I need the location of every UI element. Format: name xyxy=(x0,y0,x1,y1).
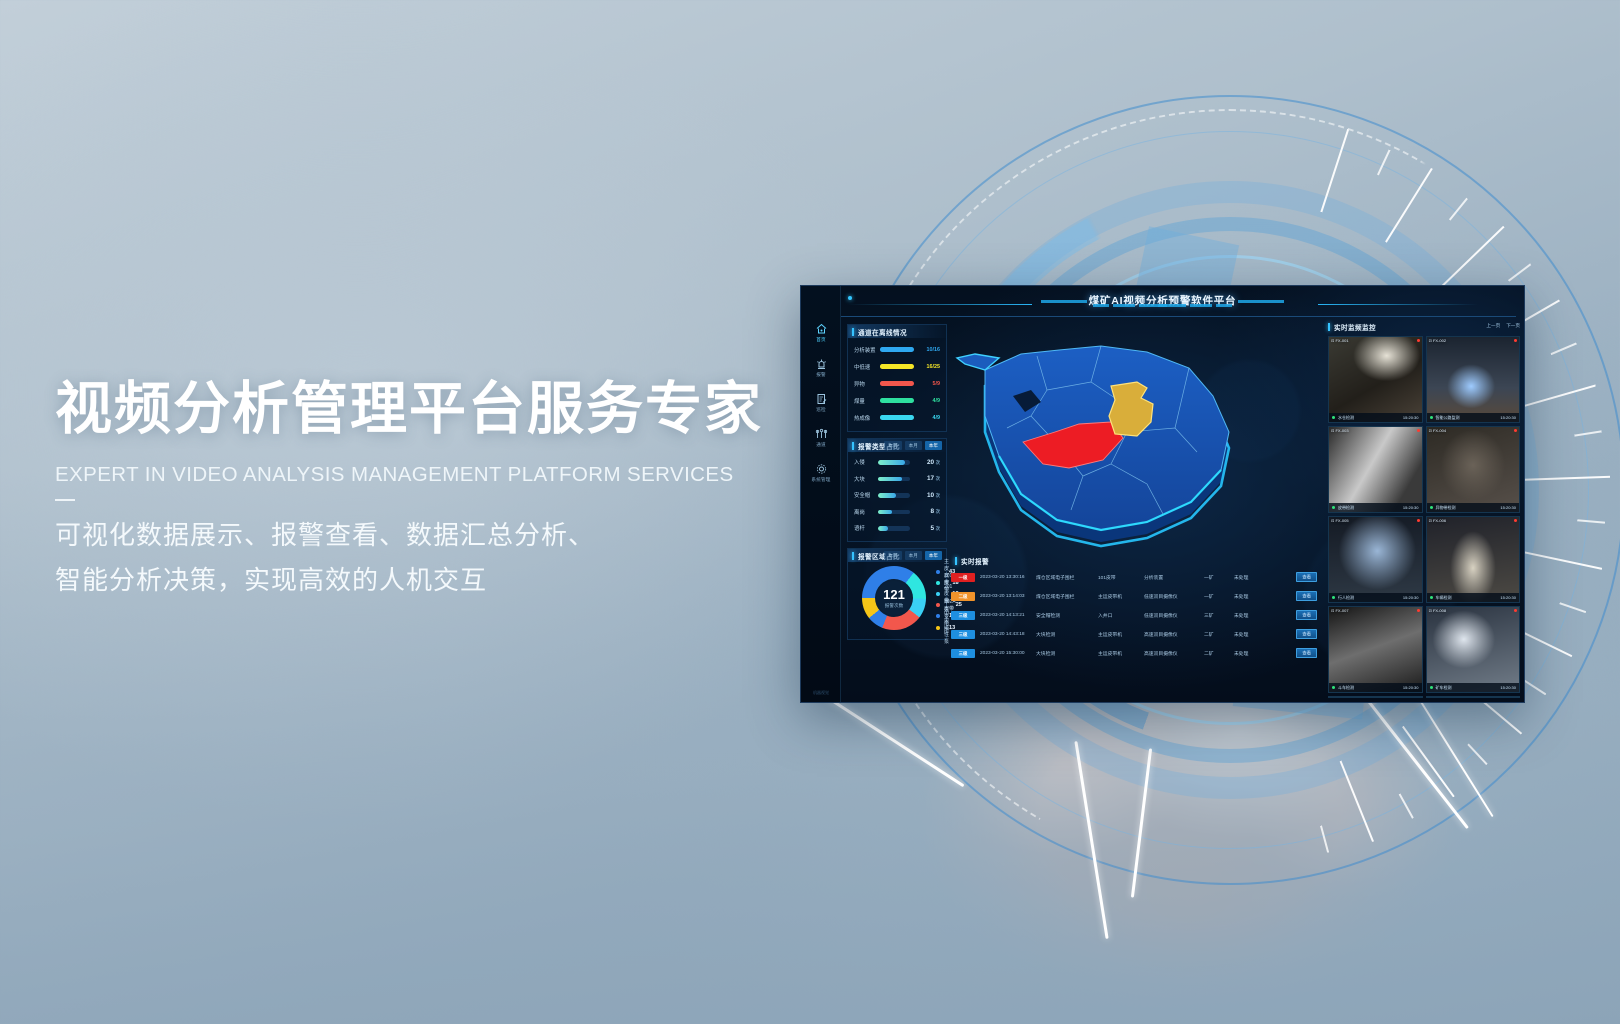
channel-row: 异物5/9 xyxy=(848,375,946,392)
hero-line-1: 可视化数据展示、报警查看、数据汇总分析、 xyxy=(55,513,815,559)
video-cell[interactable]: ⊡ FX-007斗车检测15:20:30 xyxy=(1328,606,1423,693)
video-grid: ⊡ FX-001水仓检测15:20:30⊡ FX-002智能公路监测15:20:… xyxy=(1328,336,1520,698)
alarm-device: 低速双目摄像仪 xyxy=(1144,593,1204,600)
donut-legend: 主皮皮带43101皮带18201皮带12102A皮带25中央变电所10中央磁性泵… xyxy=(936,566,940,633)
alarm-mine: 二矿 xyxy=(1204,631,1234,638)
legend-dot-icon xyxy=(936,570,940,574)
action-cell: 查看 xyxy=(1262,651,1319,657)
sidebar-item-alarm[interactable]: 报警 xyxy=(801,349,841,384)
legend-item: 中央磁性泵13 xyxy=(936,622,940,633)
channel-value: 5/9 xyxy=(914,381,940,387)
legend-item: 主皮皮带43 xyxy=(936,566,940,577)
hero-text-block: 视频分析管理平台服务专家 EXPERT IN VIDEO ANALYSIS MA… xyxy=(55,378,815,604)
alarm-icon xyxy=(815,358,828,370)
tab-本年[interactable]: 本年 xyxy=(925,441,942,450)
region-map[interactable] xyxy=(951,324,1251,552)
video-cell[interactable]: ⊡ FX-006车辆检测15:20:30 xyxy=(1426,516,1521,603)
panel-header: 实时监频监控 上一页 下一页 xyxy=(1324,320,1524,334)
time-range-tabs: 本周本月本年 xyxy=(884,551,942,560)
dashboard-header: 煤矿AI视频分析预警软件平台 xyxy=(801,286,1524,320)
alarm-type-label: 语杆 xyxy=(854,524,878,532)
alarm-type-track xyxy=(878,526,910,531)
alarm-type-label: 入侵 xyxy=(854,458,878,466)
alarm-level-badge: 二级 xyxy=(951,592,975,601)
alarm-type-fill xyxy=(878,460,905,465)
channel-track xyxy=(880,364,914,369)
accent-bar-icon xyxy=(1328,323,1330,331)
alarm-location: 主运皮带机 xyxy=(1098,631,1144,638)
video-cell[interactable]: ⊡ FX-004异物带检测15:20:30 xyxy=(1426,426,1521,513)
camera-timestamp: 15:20:30 xyxy=(1403,505,1419,510)
page-title: 视频分析管理平台服务专家 xyxy=(55,378,815,442)
table-row: 三级2023-03-20 14:13:21安全帽检测入井口低速双目摄像仪三矿未处… xyxy=(951,606,1319,625)
alarm-area-panel: 报警区域占比 本周本月本年 121 报警次数 主皮皮带43101皮带18201皮… xyxy=(847,548,947,640)
panel-header: 实时报警 xyxy=(951,554,1319,568)
tab-本周[interactable]: 本周 xyxy=(884,551,901,560)
recording-indicator-icon xyxy=(1417,339,1420,342)
recording-indicator-icon xyxy=(1514,609,1517,612)
alarm-level-badge: 三级 xyxy=(951,649,975,658)
sidebar-item-label: 首页 xyxy=(801,337,841,343)
channel-icon xyxy=(815,428,828,440)
channel-bar-list: 分析装置10/16中低速16/25异物5/9煤量4/9热成像4/9 xyxy=(848,338,946,426)
alarm-type: 煤仓区域电子围栏 xyxy=(1036,574,1098,581)
alarm-type-fill xyxy=(878,493,896,498)
legend-dot-icon xyxy=(936,581,940,585)
video-feed-image xyxy=(1427,517,1520,602)
video-cell-footer: 水仓检测15:20:30 xyxy=(1329,413,1422,422)
realtime-alarm-panel: 实时报警 一级2023-03-20 13:30:16煤仓区域电子围栏101皮带分… xyxy=(951,554,1319,696)
tab-本年[interactable]: 本年 xyxy=(925,551,942,560)
sidebar-item-label: 通道 xyxy=(801,442,841,448)
camera-timestamp: 15:20:30 xyxy=(1403,685,1419,690)
alarm-device: 低速双目摄像仪 xyxy=(1144,612,1204,619)
alarm-location: 101皮带 xyxy=(1098,574,1144,581)
video-pagination: 上一页 下一页 xyxy=(1486,323,1520,329)
view-button[interactable]: 查看 xyxy=(1296,610,1317,620)
legend-dot-icon xyxy=(936,592,940,596)
video-cell[interactable]: ⊡ FX-011人员定位15:20:30 xyxy=(1328,696,1423,698)
alarm-type-track xyxy=(878,460,910,465)
accent-bar-icon xyxy=(852,328,854,336)
camera-id-label: ⊡ FX-003 xyxy=(1331,428,1349,433)
channel-track xyxy=(880,381,914,386)
camera-name: 皮带检测 xyxy=(1338,505,1403,511)
video-monitor-panel: 实时监频监控 上一页 下一页 ⊡ FX-001水仓检测15:20:30⊡ FX-… xyxy=(1324,320,1524,702)
video-cell[interactable]: ⊡ FX-005行人检测15:20:30 xyxy=(1328,516,1423,603)
channel-track xyxy=(880,415,914,420)
channel-value: 16/25 xyxy=(914,364,940,370)
alarm-type: 煤仓区域电子围栏 xyxy=(1036,593,1098,600)
camera-name: 矿车检测 xyxy=(1436,685,1501,691)
donut-total-label: 报警次数 xyxy=(885,603,903,609)
view-button[interactable]: 查看 xyxy=(1296,629,1317,639)
sidebar-item-system[interactable]: 系统管理 xyxy=(801,454,841,489)
recording-indicator-icon xyxy=(1417,429,1420,432)
panel-header: 报警区域占比 本周本月本年 xyxy=(848,549,946,562)
gear-icon xyxy=(815,463,828,475)
table-row: 一级2023-03-20 13:30:16煤仓区域电子围栏101皮带分析装置一矿… xyxy=(951,568,1319,587)
dashboard: 煤矿AI视频分析预警软件平台 首页 xyxy=(801,286,1524,702)
channel-label: 煤量 xyxy=(854,397,880,405)
online-status-icon xyxy=(1332,596,1335,599)
camera-id-label: ⊡ FX-005 xyxy=(1331,518,1349,523)
alarm-status: 未处理 xyxy=(1234,631,1262,638)
alarm-type-row: 安全帽10次 xyxy=(848,487,946,504)
alarm-status: 未处理 xyxy=(1234,650,1262,657)
sidebar-item-label: 报警 xyxy=(801,372,841,378)
alarm-mine: 三矿 xyxy=(1204,612,1234,619)
camera-timestamp: 15:20:30 xyxy=(1500,415,1516,420)
channel-fill xyxy=(880,381,899,386)
recording-indicator-icon xyxy=(1514,339,1517,342)
legend-dot-icon xyxy=(936,614,940,618)
tab-本月[interactable]: 本月 xyxy=(905,441,922,450)
alarm-location: 主运皮带机 xyxy=(1098,650,1144,657)
alarm-type-label: 安全帽 xyxy=(854,491,878,499)
alarm-type-value: 5次 xyxy=(910,525,940,532)
camera-id-label: ⊡ FX-007 xyxy=(1331,608,1349,613)
video-feed-image xyxy=(1427,337,1520,422)
recording-indicator-icon xyxy=(1514,429,1517,432)
alarm-time: 2023-03-20 13:14:03 xyxy=(980,594,1036,599)
panel-header: 报警类型占比 本周本月本年 xyxy=(848,439,946,452)
accent-bar-icon xyxy=(852,552,854,560)
sidebar-item-label: 巡检 xyxy=(801,407,841,413)
prev-page-button[interactable]: 上一页 xyxy=(1486,323,1500,329)
alarm-type-row: 大块17次 xyxy=(848,471,946,488)
view-button[interactable]: 查看 xyxy=(1296,591,1317,601)
camera-id-label: ⊡ FX-002 xyxy=(1429,338,1447,343)
legend-item: 中央变电所10 xyxy=(936,611,940,622)
online-status-icon xyxy=(1332,686,1335,689)
camera-id-label: ⊡ FX-006 xyxy=(1429,518,1447,523)
video-cell-footer: 异物带检测15:20:30 xyxy=(1427,503,1520,512)
alarm-type-panel: 报警类型占比 本周本月本年 入侵20次大块17次安全帽10次离岗8次语杆5次 xyxy=(847,438,947,542)
channel-fill xyxy=(880,415,895,420)
video-feed-image xyxy=(1329,427,1422,512)
alarm-time: 2023-03-20 14:13:21 xyxy=(980,613,1036,618)
channel-value: 4/9 xyxy=(914,398,940,404)
view-button[interactable]: 查看 xyxy=(1296,572,1317,582)
camera-timestamp: 15:20:30 xyxy=(1500,505,1516,510)
channel-label: 热成像 xyxy=(854,414,880,422)
video-feed-image xyxy=(1427,607,1520,692)
online-status-icon xyxy=(1332,506,1335,509)
recording-indicator-icon xyxy=(1417,609,1420,612)
table-row: 三级2023-03-20 14:43:18大块检测主运皮带机高速双目摄像仪二矿未… xyxy=(951,625,1319,644)
alarm-type-fill xyxy=(878,510,892,515)
alarm-type: 大块检测 xyxy=(1036,650,1098,657)
alarm-type: 安全帽检测 xyxy=(1036,612,1098,619)
channel-fill xyxy=(880,398,895,403)
alarm-type-label: 大块 xyxy=(854,475,878,483)
next-page-button[interactable]: 下一页 xyxy=(1506,323,1520,329)
tab-本月[interactable]: 本月 xyxy=(905,551,922,560)
monitor-screen: 煤矿AI视频分析预警软件平台 首页 xyxy=(800,285,1525,703)
channel-status-panel: 通道在离线情况 分析装置10/16中低速16/25异物5/9煤量4/9热成像4/… xyxy=(847,324,947,432)
view-button[interactable]: 查看 xyxy=(1296,648,1317,658)
video-feed-image xyxy=(1329,517,1422,602)
panel-title: 实时监频监控 xyxy=(1334,322,1376,332)
video-cell[interactable]: ⊡ FX-002智能公路监测15:20:30 xyxy=(1426,336,1521,423)
channel-label: 中低速 xyxy=(854,363,880,371)
donut-center: 121 报警次数 xyxy=(862,566,926,630)
channel-fill xyxy=(880,347,901,352)
alarm-type-track xyxy=(878,477,910,482)
alarm-type-row: 入侵20次 xyxy=(848,454,946,471)
sidebar-item-inspection[interactable]: 巡检 xyxy=(801,384,841,419)
alarm-status: 未处理 xyxy=(1234,612,1262,619)
video-feed-image xyxy=(1329,607,1422,692)
video-cell-footer: 智能公路监测15:20:30 xyxy=(1427,413,1520,422)
alarm-location: 入井口 xyxy=(1098,612,1144,619)
channel-value: 10/16 xyxy=(914,347,940,353)
alarm-mine: 一矿 xyxy=(1204,574,1234,581)
channel-fill xyxy=(880,364,902,369)
alarm-status: 未处理 xyxy=(1234,593,1262,600)
camera-id-label: ⊡ FX-001 xyxy=(1331,338,1349,343)
camera-id-label: ⊡ FX-004 xyxy=(1429,428,1447,433)
sidebar-item-label: 系统管理 xyxy=(801,477,841,483)
alarm-device: 分析装置 xyxy=(1144,574,1204,581)
alarm-type-row: 离岗8次 xyxy=(848,504,946,521)
alarm-device: 高速双目摄像仪 xyxy=(1144,631,1204,638)
camera-name: 斗车检测 xyxy=(1338,685,1403,691)
hero-line-2: 智能分析决策，实现高效的人机交互 xyxy=(55,558,815,604)
video-cell-footer: 行人检测15:20:30 xyxy=(1329,593,1422,602)
alarm-device: 高速双目摄像仪 xyxy=(1144,650,1204,657)
legend-item: 102A皮带25 xyxy=(936,600,940,611)
online-status-icon xyxy=(1430,596,1433,599)
channel-row: 分析装置10/16 xyxy=(848,341,946,358)
alarm-type-value: 8次 xyxy=(910,508,940,515)
camera-timestamp: 15:20:30 xyxy=(1500,595,1516,600)
inspection-icon xyxy=(815,393,828,405)
video-cell[interactable]: ⊡ FX-001水仓检测15:20:30 xyxy=(1328,336,1423,423)
panel-title: 通道在离线情况 xyxy=(858,327,907,337)
tab-本周[interactable]: 本周 xyxy=(884,441,901,450)
action-cell: 查看 xyxy=(1262,575,1319,581)
action-cell: 查看 xyxy=(1262,594,1319,600)
video-feed-image xyxy=(1329,337,1422,422)
channel-row: 热成像4/9 xyxy=(848,409,946,426)
map-svg xyxy=(951,324,1251,552)
video-cell-footer: 巷道检测15:20:30 xyxy=(1427,696,1520,697)
panel-header: 通道在离线情况 xyxy=(848,325,946,338)
video-cell-footer: 斗车检测15:20:30 xyxy=(1329,683,1422,692)
alarm-type-bar-list: 入侵20次大块17次安全帽10次离岗8次语杆5次 xyxy=(848,452,946,537)
camera-timestamp: 15:20:30 xyxy=(1403,595,1419,600)
alarm-type-label: 离岗 xyxy=(854,508,878,516)
video-cell[interactable]: ⊡ FX-008矿车检测15:20:30 xyxy=(1426,606,1521,693)
channel-track xyxy=(880,347,914,352)
sidebar-item-home[interactable]: 首页 xyxy=(801,314,841,349)
action-cell: 查看 xyxy=(1262,632,1319,638)
alarm-type-row: 语杆5次 xyxy=(848,520,946,537)
alarm-level-badge: 三级 xyxy=(951,611,975,620)
channel-row: 煤量4/9 xyxy=(848,392,946,409)
watermark: 机器视觉 xyxy=(801,690,841,696)
legend-item: 201皮带12 xyxy=(936,588,940,599)
alarm-type-track xyxy=(878,510,910,515)
alarm-time: 2023-03-20 14:43:18 xyxy=(980,632,1036,637)
time-range-tabs: 本周本月本年 xyxy=(884,441,942,450)
table-row: 三级2023-03-20 15:30:00大块检测主运皮带机高速双目摄像仪二矿未… xyxy=(951,644,1319,663)
panel-title: 实时报警 xyxy=(961,556,989,566)
legend-item: 101皮带18 xyxy=(936,577,940,588)
alarm-level-badge: 三级 xyxy=(951,630,975,639)
channel-value: 4/9 xyxy=(914,415,940,421)
alarm-time: 2023-03-20 15:30:00 xyxy=(980,651,1036,656)
table-row: 二级2023-03-20 13:14:03煤仓区域电子围栏主运皮带机低速双目摄像… xyxy=(951,587,1319,606)
alarm-type-value: 10次 xyxy=(910,492,940,499)
sidebar: 首页 报警 巡检 xyxy=(801,286,841,702)
alarm-type-fill xyxy=(878,477,902,482)
alarm-area-donut-chart: 121 报警次数 主皮皮带43101皮带18201皮带12102A皮带25中央变… xyxy=(848,562,946,636)
camera-timestamp: 15:20:30 xyxy=(1403,415,1419,420)
action-cell: 查看 xyxy=(1262,613,1319,619)
alarm-type-track xyxy=(878,493,910,498)
online-status-icon xyxy=(1430,506,1433,509)
video-cell[interactable]: ⊡ FX-003皮带检测15:20:30 xyxy=(1328,426,1423,513)
channel-row: 中低速16/25 xyxy=(848,358,946,375)
sidebar-nav: 首页 报警 巡检 xyxy=(801,314,841,489)
channel-label: 分析装置 xyxy=(854,346,880,354)
alarm-level-badge: 一级 xyxy=(951,573,975,582)
alarm-mine: 二矿 xyxy=(1204,650,1234,657)
online-status-icon xyxy=(1332,416,1335,419)
camera-name: 车辆检测 xyxy=(1436,595,1501,601)
sidebar-item-channel[interactable]: 通道 xyxy=(801,419,841,454)
online-status-icon xyxy=(1430,686,1433,689)
camera-name: 智能公路监测 xyxy=(1436,415,1501,421)
hero-divider xyxy=(55,499,75,501)
alarm-type-value: 20次 xyxy=(910,459,940,466)
alarm-table: 一级2023-03-20 13:30:16煤仓区域电子围栏101皮带分析装置一矿… xyxy=(951,568,1319,663)
video-cell-footer: 皮带检测15:20:30 xyxy=(1329,503,1422,512)
camera-name: 水仓检测 xyxy=(1338,415,1403,421)
alarm-location: 主运皮带机 xyxy=(1098,593,1144,600)
alarm-status: 未处理 xyxy=(1234,574,1262,581)
accent-bar-icon xyxy=(852,442,854,450)
recording-indicator-icon xyxy=(1514,519,1517,522)
camera-id-label: ⊡ FX-008 xyxy=(1429,608,1447,613)
camera-name: 异物带检测 xyxy=(1436,505,1501,511)
alarm-type: 大块检测 xyxy=(1036,631,1098,638)
donut-total-value: 121 xyxy=(883,588,905,601)
alarm-mine: 一矿 xyxy=(1204,593,1234,600)
hero-subtitle: EXPERT IN VIDEO ANALYSIS MANAGEMENT PLAT… xyxy=(55,463,815,487)
online-status-icon xyxy=(1430,416,1433,419)
legend-dot-icon xyxy=(936,626,940,630)
video-cell-footer: 人员定位15:20:30 xyxy=(1329,696,1422,697)
alarm-type-value: 17次 xyxy=(910,475,940,482)
camera-name: 行人检测 xyxy=(1338,595,1403,601)
accent-bar-icon xyxy=(955,557,957,565)
video-cell[interactable]: ⊡ FX-012巷道检测15:20:30 xyxy=(1426,696,1521,698)
video-feed-image xyxy=(1427,427,1520,512)
video-cell-footer: 车辆检测15:20:30 xyxy=(1427,593,1520,602)
alarm-type-fill xyxy=(878,526,888,531)
home-icon xyxy=(815,323,828,335)
recording-indicator-icon xyxy=(1417,519,1420,522)
alarm-time: 2023-03-20 13:30:16 xyxy=(980,575,1036,580)
legend-dot-icon xyxy=(936,603,940,607)
channel-label: 异物 xyxy=(854,380,880,388)
camera-timestamp: 15:20:30 xyxy=(1500,685,1516,690)
video-cell-footer: 矿车检测15:20:30 xyxy=(1427,683,1520,692)
channel-track xyxy=(880,398,914,403)
